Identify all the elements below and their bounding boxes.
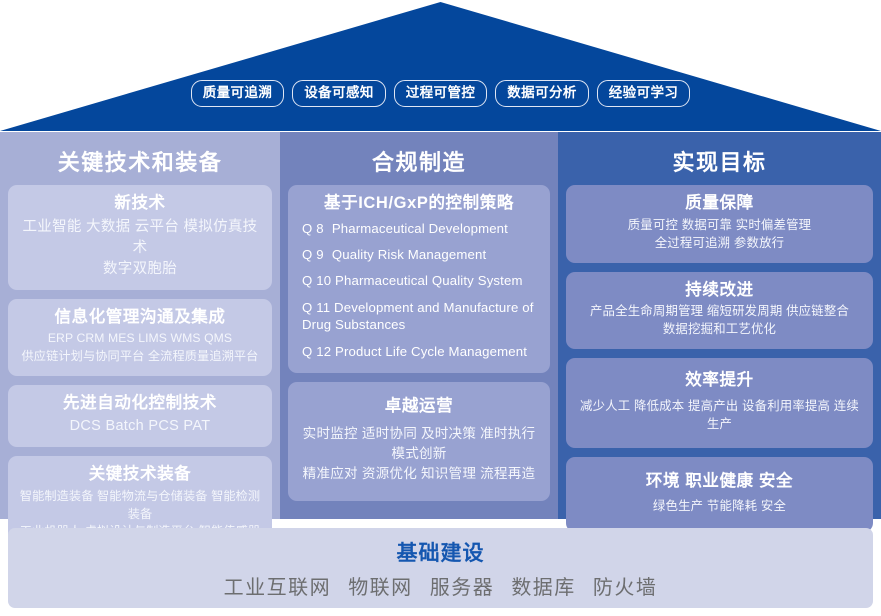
pillar-card-list-compliant-manufacturing: 基于ICH/GxP的控制策略 Q 8 Pharmaceutical Develo… [280, 177, 558, 501]
ich-title: Pharmaceutical Quality System [335, 273, 523, 288]
diagram-root: 质量可追溯 设备可感知 过程可管控 数据可分析 经验可学习 关键技术和装备 新技… [0, 0, 881, 616]
card-line: 质量可控 数据可靠 实时偏差管理 [574, 217, 865, 235]
foundation-item-database: 数据库 [511, 577, 576, 599]
pillar-card-list-key-technology: 新技术 工业智能 大数据 云平台 模拟仿真技术 数字双胞胎 信息化管理沟通及集成… [0, 177, 280, 551]
foundation-item-iot: 物联网 [348, 577, 413, 599]
roof-pill-process-control[interactable]: 过程可管控 [394, 80, 488, 107]
pillar-compliant-manufacturing: 合规制造 基于ICH/GxP的控制策略 Q 8 Pharmaceutical D… [280, 132, 558, 519]
card-title: 卓越运营 [296, 396, 542, 417]
list-item: Q 11 Development and Manufacture of Drug… [302, 299, 538, 335]
card-title: 先进自动化控制技术 [16, 393, 264, 414]
card-environment-health-safety[interactable]: 环境 职业健康 安全 绿色生产 节能降耗 安全 [566, 457, 873, 533]
list-item: Q 10 Pharmaceutical Quality System [302, 272, 538, 290]
roof-pill-row: 质量可追溯 设备可感知 过程可管控 数据可分析 经验可学习 [0, 80, 881, 107]
card-title: 新技术 [16, 193, 264, 214]
list-item: Q 9 Quality Risk Management [302, 246, 538, 264]
foundation-section: 基础建设 工业互联网 物联网 服务器 数据库 防火墙 [8, 528, 873, 608]
card-operational-excellence[interactable]: 卓越运营 实时监控 适时协同 及时决策 准时执行 模式创新 精准应对 资源优化 … [288, 382, 550, 502]
ich-code: Q 11 [302, 299, 330, 317]
card-line: 智能制造装备 智能物流与仓储装备 智能检测装备 [16, 488, 264, 523]
roof-pill-quality-traceable[interactable]: 质量可追溯 [191, 80, 285, 107]
foundation-item-list: 工业互联网 物联网 服务器 数据库 防火墙 [219, 571, 663, 600]
card-line: 数据挖掘和工艺优化 [574, 321, 865, 339]
list-item: Q 12 Product Life Cycle Management [302, 343, 538, 361]
ich-title: Quality Risk Management [332, 247, 486, 262]
ich-code: Q 10 [302, 272, 331, 290]
card-line: DCS Batch PCS PAT [16, 416, 264, 437]
ich-title: Pharmaceutical Development [332, 221, 508, 236]
card-line: 减少人工 降低成本 提高产出 设备利用率提高 连续生产 [574, 398, 865, 434]
pillar-key-technology: 关键技术和装备 新技术 工业智能 大数据 云平台 模拟仿真技术 数字双胞胎 信息… [0, 132, 280, 519]
card-title: 信息化管理沟通及集成 [16, 307, 264, 328]
pillar-title-key-technology: 关键技术和装备 [0, 132, 280, 177]
ich-code: Q 9 [302, 246, 328, 264]
pillar-title-goals: 实现目标 [558, 132, 881, 177]
card-ich-gxp-control-strategy[interactable]: 基于ICH/GxP的控制策略 Q 8 Pharmaceutical Develo… [288, 185, 550, 373]
card-title: 基于ICH/GxP的控制策略 [296, 193, 542, 214]
card-line: 绿色生产 节能降耗 安全 [574, 498, 865, 516]
card-line: 实时监控 适时协同 及时决策 准时执行 模式创新 [296, 424, 542, 463]
card-line: 精准应对 资源优化 知识管理 流程再造 [296, 464, 542, 484]
foundation-item-industrial-internet: 工业互联网 [224, 577, 332, 599]
foundation-item-server: 服务器 [430, 577, 495, 599]
card-title: 质量保障 [574, 193, 865, 214]
card-title: 环境 职业健康 安全 [574, 471, 865, 492]
foundation-title: 基础建设 [397, 537, 485, 567]
list-item: Q 8 Pharmaceutical Development [302, 220, 538, 238]
pillar-title-compliant-manufacturing: 合规制造 [280, 132, 558, 177]
ich-title: Development and Manufacture of Drug Subs… [302, 300, 534, 333]
card-informatization-management[interactable]: 信息化管理沟通及集成 ERP CRM MES LIMS WMS QMS 供应链计… [8, 299, 272, 376]
card-advanced-automation-control[interactable]: 先进自动化控制技术 DCS Batch PCS PAT [8, 385, 272, 448]
ich-code: Q 8 [302, 220, 328, 238]
roof-pill-equipment-sensing[interactable]: 设备可感知 [292, 80, 386, 107]
roof-pill-data-analysis[interactable]: 数据可分析 [495, 80, 589, 107]
pillar-card-list-goals: 质量保障 质量可控 数据可靠 实时偏差管理 全过程可追溯 参数放行 持续改进 产… [558, 177, 881, 532]
card-line: 供应链计划与协同平台 全流程质量追溯平台 [16, 348, 264, 366]
card-line: 数字双胞胎 [16, 259, 264, 280]
card-title: 效率提升 [574, 370, 865, 391]
card-efficiency-improvement[interactable]: 效率提升 减少人工 降低成本 提高产出 设备利用率提高 连续生产 [566, 358, 873, 448]
pillar-goals: 实现目标 质量保障 质量可控 数据可靠 实时偏差管理 全过程可追溯 参数放行 持… [558, 132, 881, 519]
card-continuous-improvement[interactable]: 持续改进 产品全生命周期管理 缩短研发周期 供应链整合 数据挖掘和工艺优化 [566, 272, 873, 350]
card-line: ERP CRM MES LIMS WMS QMS [16, 330, 264, 348]
card-line: 工业智能 大数据 云平台 模拟仿真技术 [16, 217, 264, 259]
pillars-section: 关键技术和装备 新技术 工业智能 大数据 云平台 模拟仿真技术 数字双胞胎 信息… [0, 132, 881, 519]
card-line: 全过程可追溯 参数放行 [574, 235, 865, 253]
ich-guideline-list: Q 8 Pharmaceutical Development Q 9 Quali… [296, 220, 542, 361]
ich-title: Product Life Cycle Management [335, 344, 527, 359]
card-new-technology[interactable]: 新技术 工业智能 大数据 云平台 模拟仿真技术 数字双胞胎 [8, 185, 272, 290]
card-title: 持续改进 [574, 280, 865, 301]
roof-section: 质量可追溯 设备可感知 过程可管控 数据可分析 经验可学习 [0, 0, 881, 132]
foundation-item-firewall: 防火墙 [593, 577, 658, 599]
card-line: 产品全生命周期管理 缩短研发周期 供应链整合 [574, 303, 865, 321]
card-quality-assurance[interactable]: 质量保障 质量可控 数据可靠 实时偏差管理 全过程可追溯 参数放行 [566, 185, 873, 263]
ich-code: Q 12 [302, 343, 331, 361]
card-title: 关键技术装备 [16, 464, 264, 485]
roof-pill-experience-learning[interactable]: 经验可学习 [597, 80, 691, 107]
roof-triangle-icon [0, 0, 881, 132]
